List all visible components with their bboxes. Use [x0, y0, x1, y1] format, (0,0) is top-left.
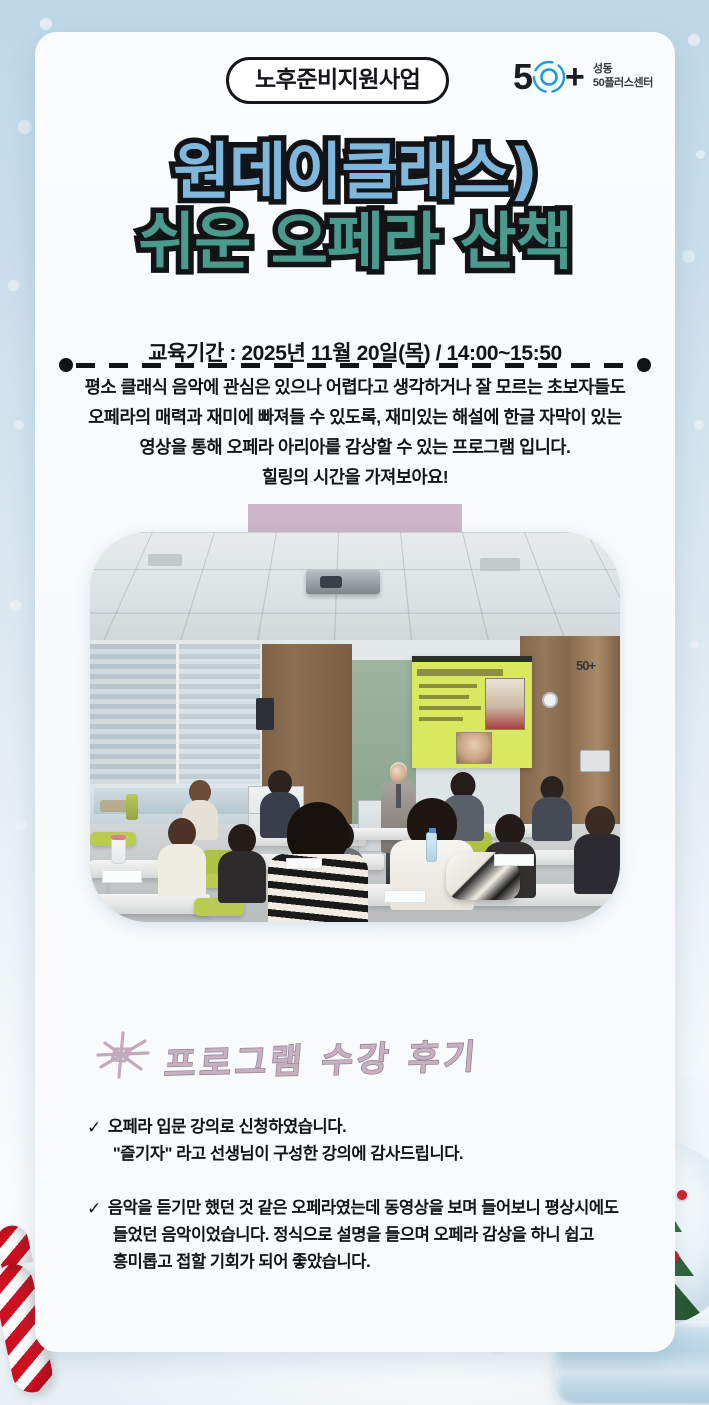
photo-projection-screen — [412, 656, 532, 768]
review-item: ✓ 음악을 듣기만 했던 것 같은 오페라였는데 동영상을 보며 들어보니 평상… — [87, 1195, 675, 1275]
logo-org-text: 성동 50플러스센터 — [593, 63, 653, 91]
attendee-body — [574, 834, 620, 894]
slide-title-bar — [417, 669, 527, 676]
description-line-3: 영상을 통해 오페라 아리아를 감상할 수 있는 프로그램 입니다. — [65, 432, 645, 462]
photo-attendee — [158, 818, 206, 892]
poster-title: 원데이클래스) 쉬운 오페라 산책 — [35, 140, 675, 274]
slide-poster-image — [485, 678, 525, 730]
slide-text-line — [419, 717, 463, 721]
reviews-heading-text: 프로그램 수강 후기 — [163, 1029, 482, 1086]
bokeh-flake — [696, 150, 705, 159]
review-line: 들었던 음악이었습니다. 정식으로 설명을 들으며 오페라 감상을 하니 쉽고 — [108, 1222, 675, 1249]
description-line-4: 힐링의 시간을 가져보아요! — [65, 462, 645, 492]
slide-portrait-image — [456, 732, 492, 764]
photo-speaker — [256, 698, 274, 730]
divider-dot-right — [637, 358, 651, 372]
star-icon — [95, 1027, 151, 1088]
program-category-badge: 노후준비지원사업 — [226, 57, 449, 104]
bokeh-flake — [8, 280, 19, 291]
photo-paper — [384, 890, 426, 903]
slide-text-line — [419, 706, 481, 710]
check-icon: ✓ — [87, 1195, 101, 1223]
attendee-body — [532, 797, 572, 841]
review-line: "즐기자" 라고 선생님이 구성한 강의에 감사드립니다. — [108, 1141, 675, 1168]
center-logo: 5 + 성동 50플러스센터 — [513, 59, 653, 95]
review-text: 음악을 듣기만 했던 것 같은 오페라였는데 동영상을 보며 들어보니 평상시에… — [108, 1195, 675, 1275]
photo-wall-logo: 50+ — [576, 658, 616, 678]
review-item: ✓ 오페라 입문 강의로 신청하였습니다. "즐기자" 라고 선생님이 구성한 … — [87, 1114, 675, 1167]
logo-mark: 5 + — [513, 59, 585, 95]
description-line-2: 오페라의 매력과 재미에 빠져들 수 있도록, 재미있는 해설에 한글 자막이 … — [65, 402, 645, 432]
photo-attendee — [532, 776, 572, 838]
description-line-1: 평소 클래식 음악에 관심은 있으나 어렵다고 생각하거나 잘 모르는 초보자들… — [65, 372, 645, 402]
photo-attendee — [574, 806, 620, 892]
review-line: 흥미롭고 접할 기회가 되어 좋았습니다. — [108, 1249, 675, 1276]
photo-wall-panel — [580, 750, 610, 772]
photo-projector — [306, 570, 380, 594]
attendee-body — [158, 844, 206, 896]
logo-org-line1: 성동 — [593, 63, 653, 77]
photo-ceiling-vent — [480, 558, 520, 571]
header-row: 노후준비지원사업 5 + 성동 50플러스센터 — [35, 57, 675, 105]
title-line-1: 원데이클래스) — [35, 140, 675, 204]
photo-ceiling-vent — [148, 554, 182, 566]
review-line: 음악을 듣기만 했던 것 같은 오페라였는데 동영상을 보며 들어보니 평상시에… — [108, 1195, 675, 1222]
photo-paper — [494, 854, 534, 866]
bokeh-flake — [14, 420, 24, 430]
divider-dash-line — [76, 363, 634, 368]
title-line-2: 쉬운 오페라 산책 — [35, 210, 675, 274]
photo-paper — [286, 858, 322, 869]
bokeh-flake — [688, 34, 700, 46]
photo-window-blinds — [176, 644, 260, 792]
attendee-body — [218, 851, 266, 903]
photo-window-view — [94, 788, 254, 814]
bokeh-flake — [690, 640, 699, 649]
slide-text-line — [419, 684, 477, 688]
photo-drink-cup — [111, 838, 126, 864]
slide-text-line — [419, 695, 469, 699]
bokeh-flake — [694, 420, 704, 430]
bokeh-flake — [682, 250, 695, 263]
photo-attendee — [218, 824, 266, 900]
bokeh-flake — [18, 120, 32, 134]
divider-dot-left — [59, 358, 73, 372]
logo-org-line2: 50플러스센터 — [593, 77, 653, 91]
logo-ring-icon — [532, 60, 566, 94]
photo-paper — [102, 870, 142, 883]
photo-desk — [90, 894, 210, 914]
photo-tumbler — [126, 794, 138, 820]
reviews-list: ✓ 오페라 입문 강의로 신청하였습니다. "즐기자" 라고 선생님이 구성한 … — [87, 1114, 675, 1304]
poster-root: 노후준비지원사업 5 + 성동 50플러스센터 — [0, 0, 709, 1405]
program-description: 평소 클래식 음악에 관심은 있으나 어렵다고 생각하거나 잘 모르는 초보자들… — [65, 372, 645, 492]
photo-water-bottle — [426, 832, 437, 862]
bokeh-flake — [16, 820, 27, 831]
logo-plus-sign: + — [565, 60, 585, 94]
photo-wall-clock — [542, 692, 558, 708]
bokeh-flake — [10, 600, 22, 612]
check-icon: ✓ — [87, 1114, 101, 1142]
reviews-heading-row: 프로그램 수강 후기 — [95, 1027, 479, 1088]
photo-instructor-head — [390, 764, 407, 783]
class-photo: 50+ — [90, 532, 620, 922]
bokeh-flake — [40, 18, 52, 30]
review-text: 오페라 입문 강의로 신청하였습니다. "즐기자" 라고 선생님이 구성한 강의… — [108, 1114, 675, 1167]
review-line: 오페라 입문 강의로 신청하였습니다. — [108, 1114, 675, 1141]
poster-card: 노후준비지원사업 5 + 성동 50플러스센터 — [35, 32, 675, 1352]
logo-digit-five: 5 — [513, 59, 531, 95]
